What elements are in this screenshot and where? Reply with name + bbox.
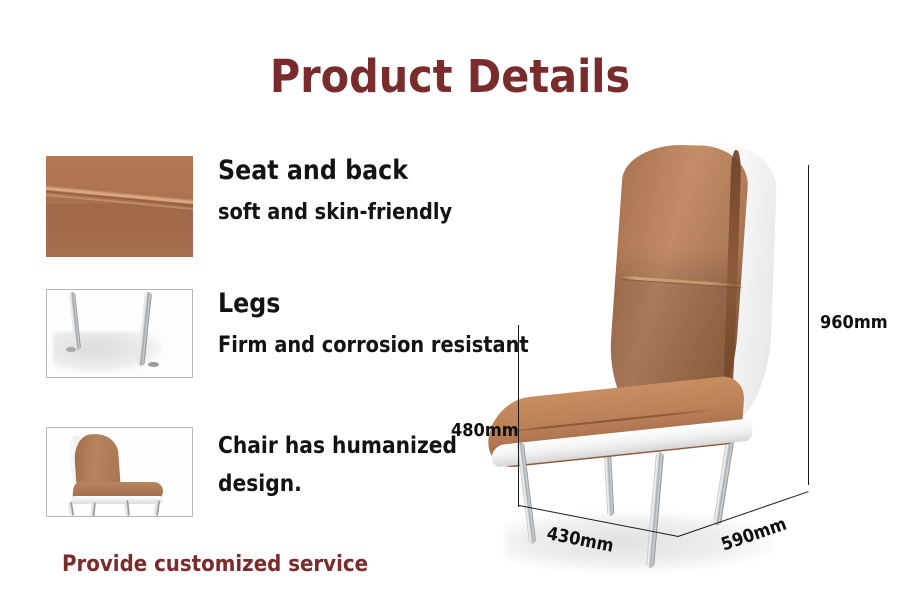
feature-subtitle: Chair has humanized design. (218, 433, 457, 497)
dimension-label-seat-height: 480mm (451, 420, 519, 441)
customized-service-note: Provide customized service (62, 552, 368, 577)
product-details-page: Product Details Seat and back soft and s… (0, 0, 900, 600)
thumb-chair-seat-panel (71, 496, 164, 504)
feature-subtitle-line-2: design. (218, 471, 457, 497)
feature-title: Seat and back (218, 156, 452, 186)
feature-text-block: Chair has humanized design. (218, 433, 490, 497)
thumb-chair-leg-4 (154, 500, 160, 516)
chrome-leg-left-tip (66, 347, 76, 352)
dining-chair-photo (455, 120, 855, 550)
feature-subtitle: soft and skin-friendly (218, 200, 452, 226)
thumb-chair-leg-2 (90, 502, 96, 517)
dimension-line-height (808, 165, 809, 485)
page-title: Product Details (36, 50, 864, 103)
dimension-line-seat-height (518, 325, 519, 507)
leather-closeup-thumbnail (46, 156, 193, 257)
dimension-label-height: 960mm (820, 312, 888, 333)
leather-shade (46, 204, 193, 257)
full-chair-thumbnail (46, 427, 193, 517)
feature-subtitle-line-1: Chair has humanized (218, 433, 457, 459)
feature-text-block: Seat and back soft and skin-friendly (218, 156, 484, 226)
chrome-legs-thumbnail (46, 289, 193, 378)
chrome-leg-right-tip (148, 362, 159, 367)
